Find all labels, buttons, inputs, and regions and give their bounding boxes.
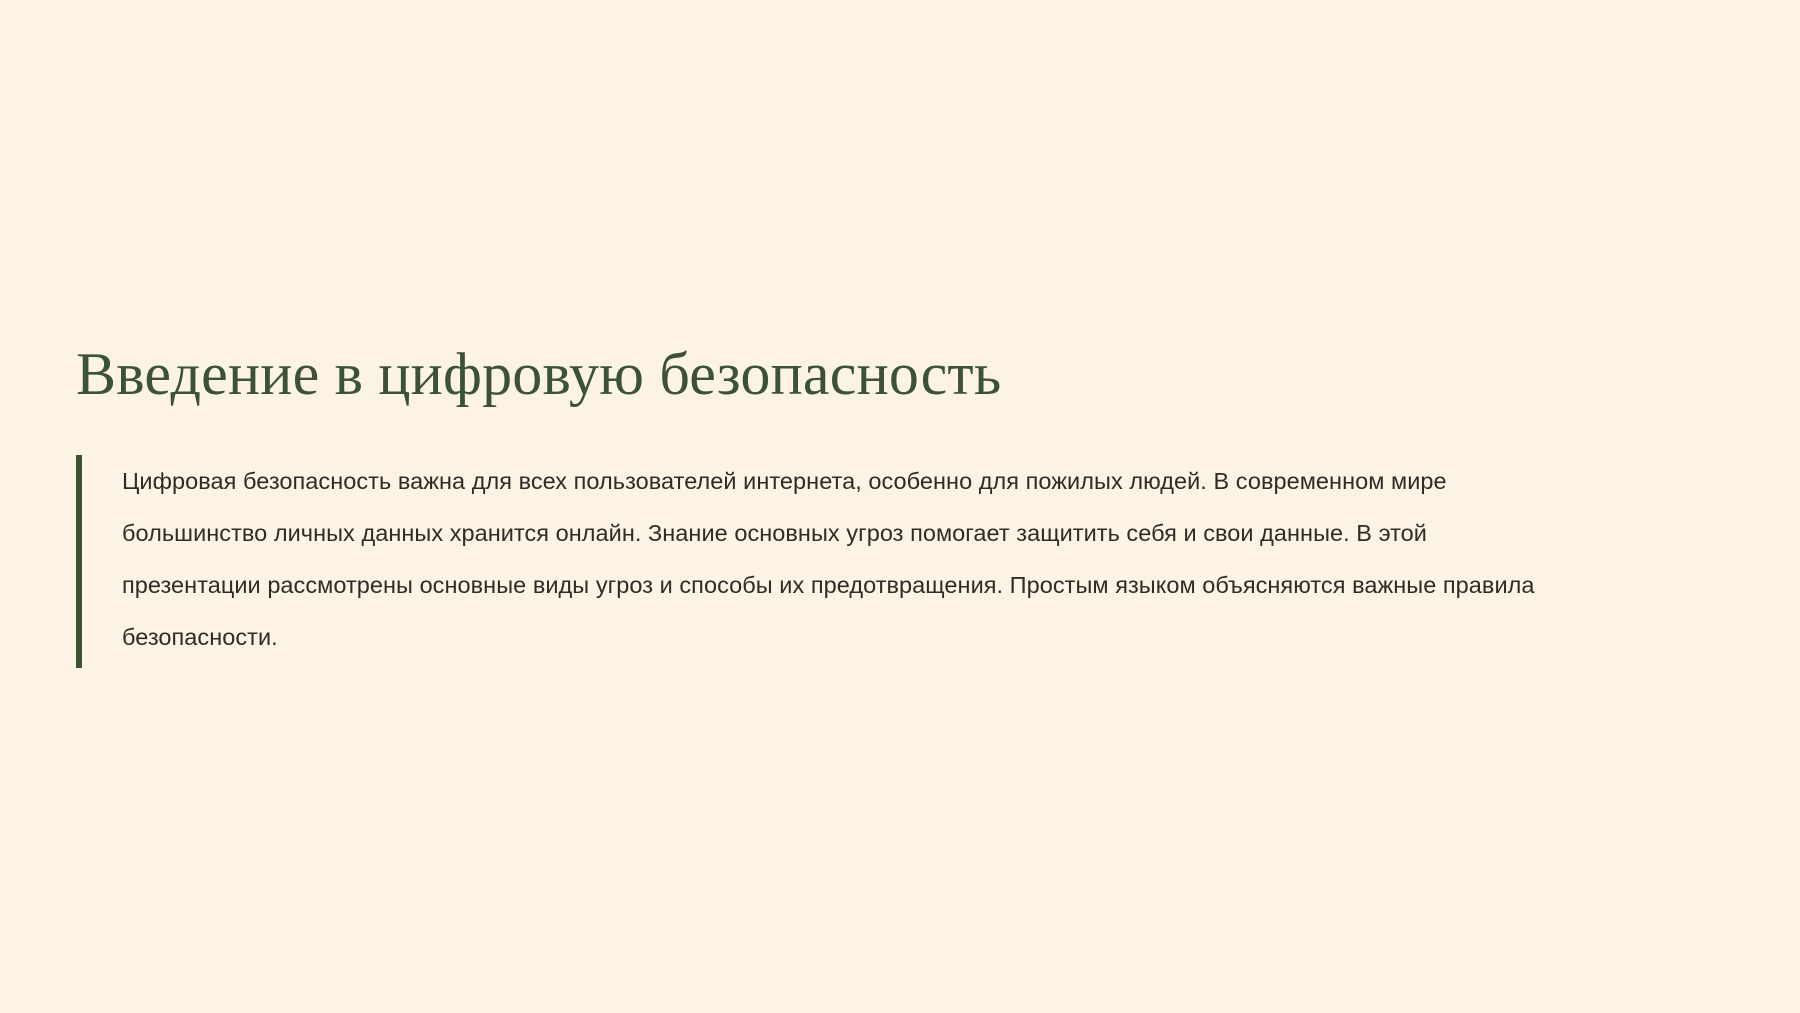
page-title: Введение в цифровую безопасность [76, 340, 1001, 409]
slide-canvas: Введение в цифровую безопасность Цифрова… [0, 0, 1800, 1013]
body-callout: Цифровая безопасность важна для всех пол… [76, 455, 1736, 668]
body-paragraph: Цифровая безопасность важна для всех пол… [82, 455, 1542, 668]
